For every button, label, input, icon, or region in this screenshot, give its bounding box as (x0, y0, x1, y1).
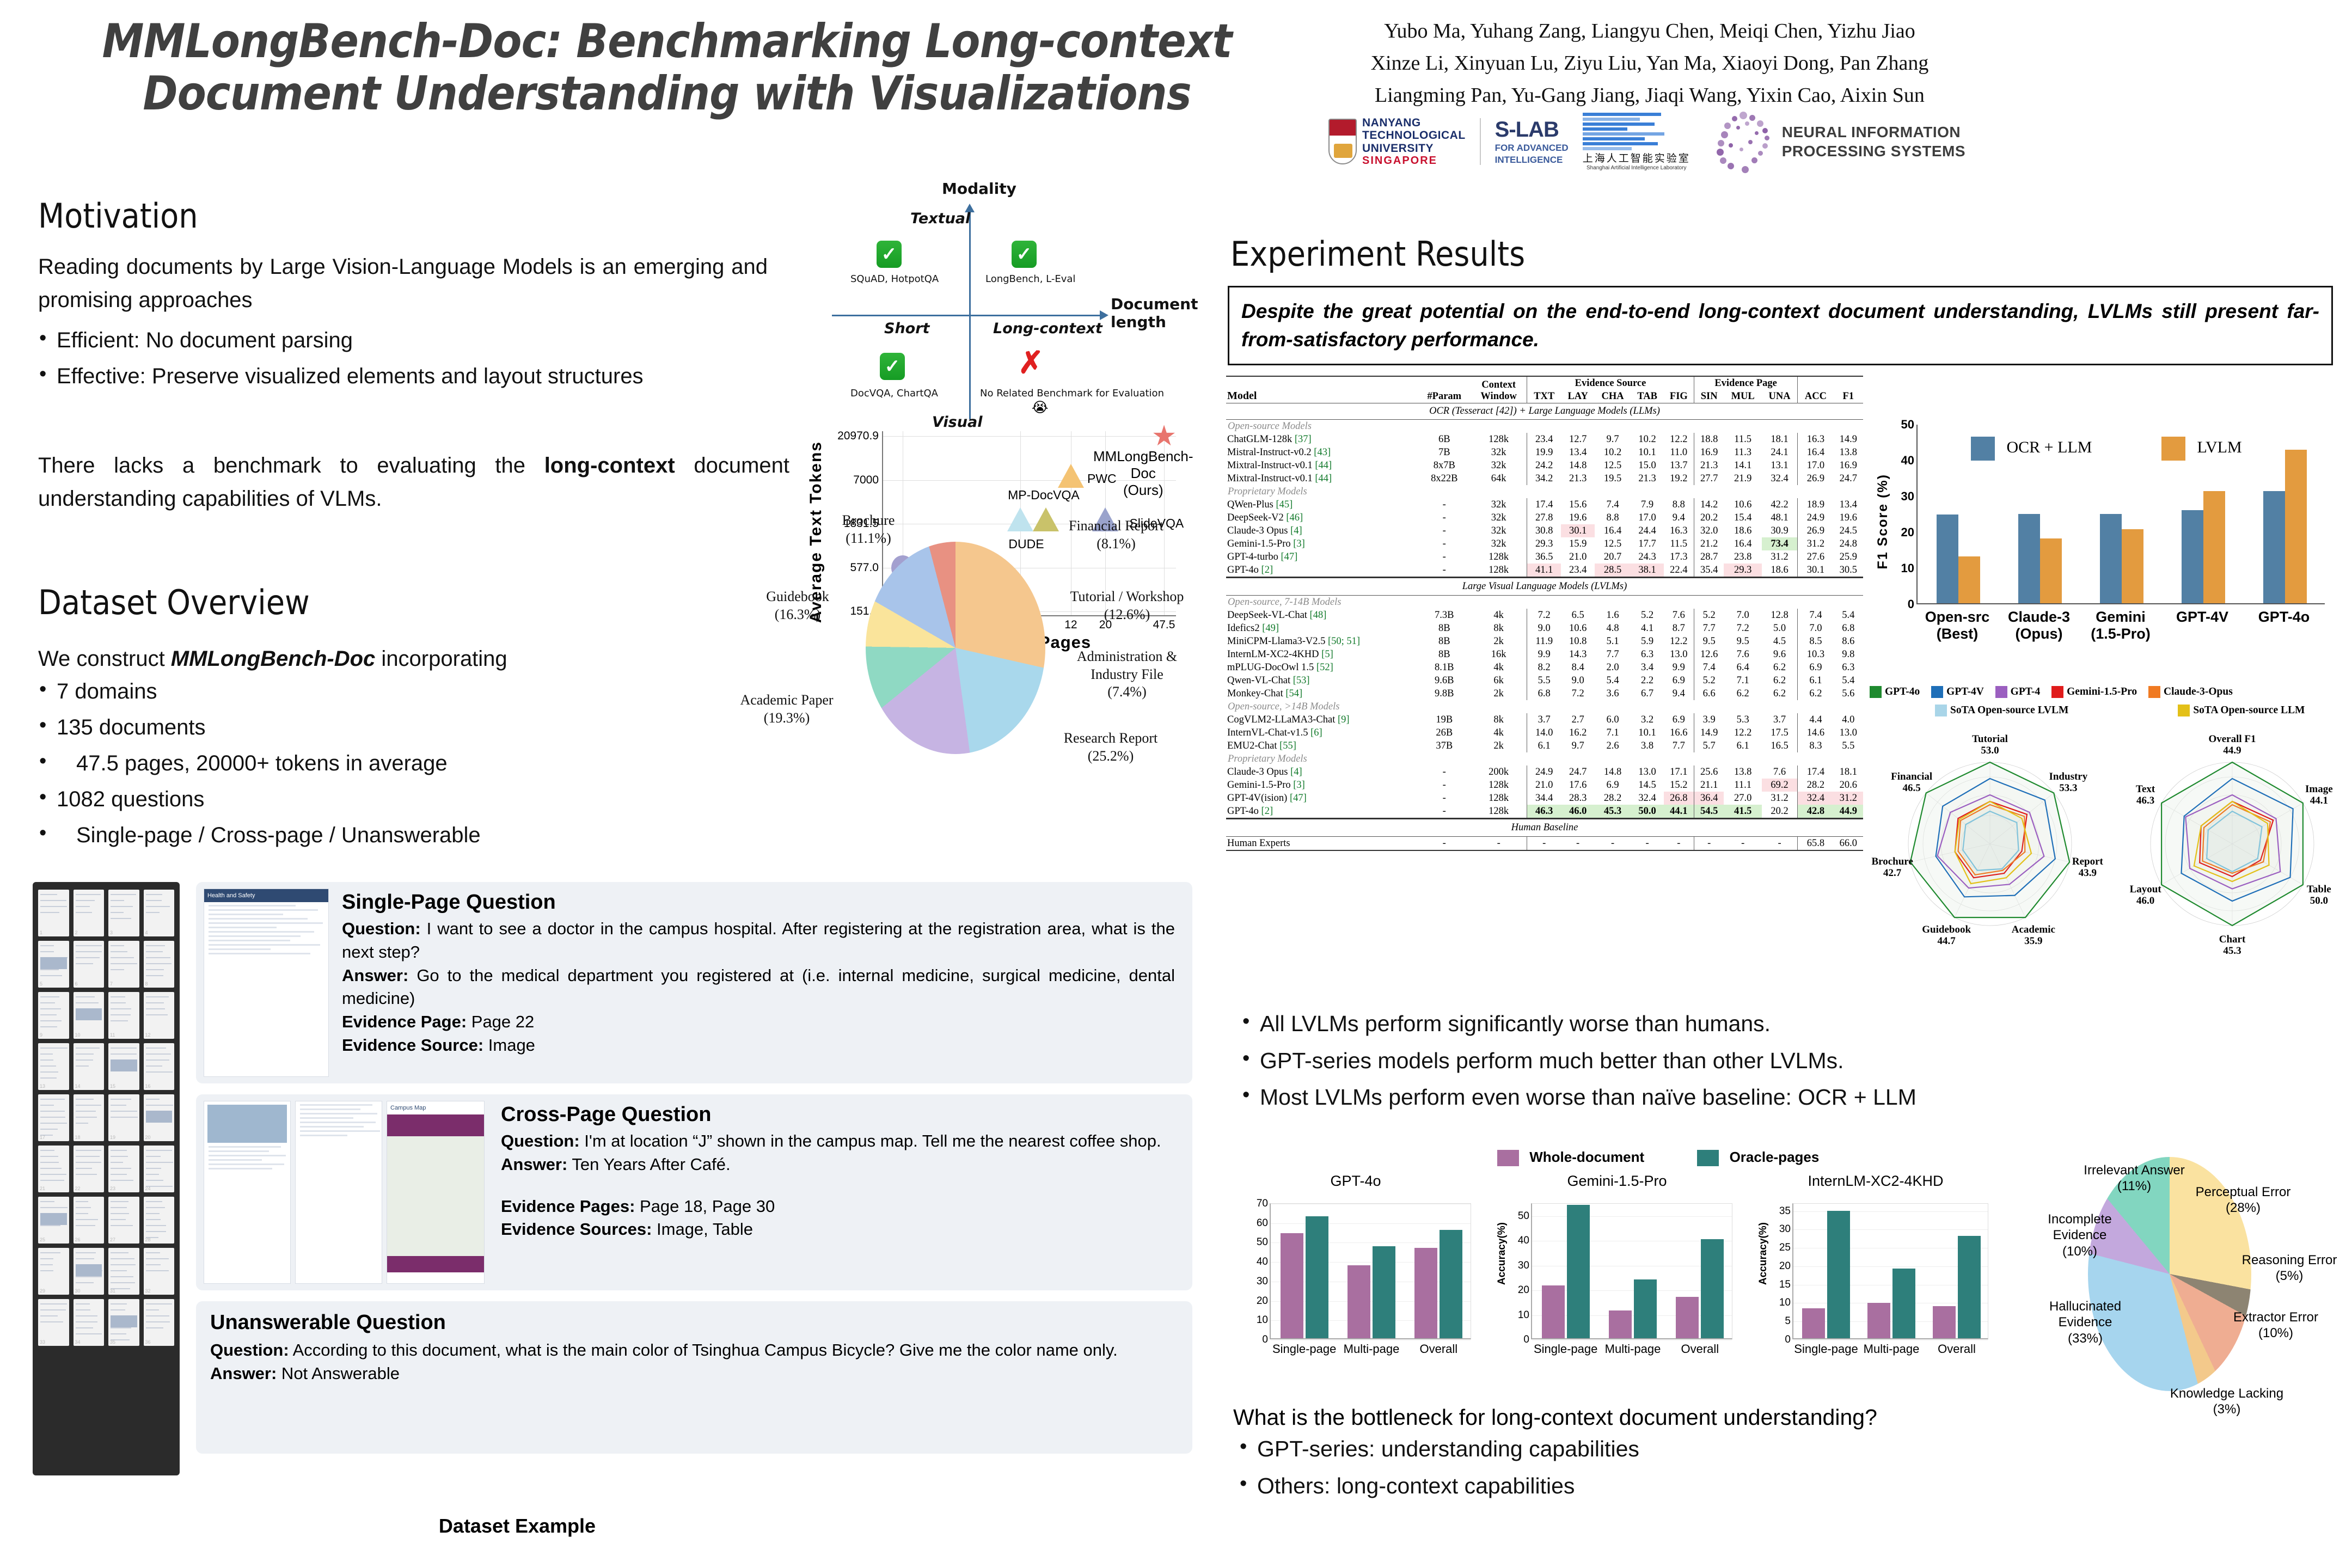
table-cell: 14.6 (1798, 726, 1834, 739)
table-cell: - (1471, 837, 1527, 851)
table-cell: 5.5 (1834, 739, 1863, 752)
mini-y-tick: 60 (1257, 1217, 1268, 1229)
f1-y-tick: 20 (1901, 525, 1914, 540)
mini-x-tick: Overall (1938, 1342, 1976, 1356)
f1-chart-y-axis-label: F1 Score (%) (1875, 474, 1891, 569)
table-cell: 14.2 (1694, 498, 1724, 511)
table-cell: 13.0 (1834, 726, 1863, 739)
table-cell: 48.1 (1762, 511, 1798, 524)
table-cell: 12.6 (1694, 648, 1724, 661)
mini-chart-gpt4o: GPT-4o010203040506070Single-pageMulti-pa… (1236, 1192, 1475, 1377)
mini-y-tick: 0 (1523, 1334, 1529, 1346)
experiment-callout-box: Despite the great potential on the end-t… (1228, 286, 2333, 365)
table-cell: 50.0 (1631, 805, 1663, 819)
table-row: GPT-4-turbo [47]-128k36.521.020.724.317.… (1226, 550, 1863, 563)
table-cell: 17.1 (1664, 765, 1694, 779)
table-cell: 30.1 (1561, 524, 1594, 537)
table-cell: 15.4 (1724, 511, 1762, 524)
table-cell: 14.8 (1595, 765, 1631, 779)
table-cell: 5.2 (1631, 609, 1663, 622)
motivation-bullet-efficient: Efficient: No document parsing (33, 324, 784, 357)
error-pie-label: Irrelevant Answer (11%) (2074, 1162, 2194, 1195)
table-cell: 30.1 (1798, 563, 1834, 578)
page-thumbnail: 23 (108, 1146, 139, 1192)
radar-legend-claude: Claude-3-Opus (2148, 686, 2233, 698)
table-cell: 3.7 (1762, 713, 1798, 726)
table-cell: - (1595, 837, 1631, 851)
table-cell: InternLM-XC2-4KHD [5] (1226, 648, 1418, 661)
domain-pie-label: Financial Report(8.1%) (1051, 517, 1181, 553)
table-cell: Qwen-VL-Chat [53] (1226, 674, 1418, 687)
quadrant-horizontal-axis (832, 315, 1104, 316)
mini-y-tick: 10 (1518, 1309, 1529, 1321)
radar-left-svg (1873, 732, 2107, 972)
table-cell: 17.5 (1762, 726, 1798, 739)
table-cell: 2k (1471, 635, 1527, 648)
mini-y-tick: 0 (1262, 1334, 1268, 1346)
table-cell: 21.9 (1724, 472, 1762, 485)
check-icon-squad: ✓ (877, 241, 902, 268)
table-cell: 2.0 (1595, 661, 1631, 674)
cross-page-doc-header: Campus Map (387, 1101, 484, 1114)
table-cell: 7.7 (1595, 648, 1631, 661)
table-cell: 64k (1471, 472, 1527, 485)
table-cell: 6.9 (1595, 779, 1631, 792)
mini-bar (1634, 1279, 1657, 1338)
radar-axis-label: Industry53.3 (2038, 771, 2098, 794)
table-cell: 6.1 (1527, 739, 1561, 752)
table-cell: 14.3 (1561, 648, 1594, 661)
table-cell: 38.1 (1631, 563, 1663, 578)
table-cell: 19.9 (1527, 446, 1561, 459)
oracle-legend: Whole-document Oracle-pages (1497, 1149, 1819, 1166)
table-cell: 15.0 (1631, 459, 1663, 472)
mini-gridline (1532, 1340, 1732, 1340)
table-cell: 6.2 (1798, 687, 1834, 700)
table-cell: TAB (1631, 390, 1663, 403)
page-thumbnail: 21 (38, 1146, 69, 1192)
mini-y-tick: 25 (1779, 1242, 1791, 1254)
table-cell: 8.3 (1798, 739, 1834, 752)
f1-bar (1958, 556, 1980, 603)
table-cell: 69.2 (1762, 779, 1798, 792)
table-cell: 5.1 (1595, 635, 1631, 648)
table-cell: 32k (1471, 459, 1527, 472)
radar-legend-gpt4o: GPT-4o (1870, 686, 1920, 698)
table-cell: 17.7 (1631, 537, 1663, 550)
table-cell: - (1418, 837, 1471, 851)
mini-bar (1414, 1248, 1437, 1338)
table-cell: 7.1 (1724, 674, 1762, 687)
table-row: QWen-Plus [45]-32k17.415.67.47.98.814.21… (1226, 498, 1863, 511)
mini-bar (1542, 1285, 1565, 1338)
table-cell: 26B (1418, 726, 1471, 739)
radar-legend-gpt4v: GPT-4V (1931, 686, 1984, 698)
shai-chinese-name: 上海人工智能实验室 (1583, 150, 1690, 165)
table-cell: 18.1 (1762, 433, 1798, 446)
single-page-doc-header: Health and Safety (204, 889, 328, 902)
table-cell: 8x22B (1418, 472, 1471, 485)
table-cell: Human Experts (1226, 837, 1418, 851)
mini-bar (1892, 1269, 1915, 1338)
table-cell: 32.4 (1631, 792, 1663, 805)
table-cell: 2.7 (1561, 713, 1594, 726)
f1-bar (2263, 491, 2285, 603)
cross-page-a-body: Ten Years After Café. (567, 1155, 730, 1174)
table-cell: 128k (1471, 805, 1527, 819)
table-cell: 6.4 (1724, 661, 1762, 674)
table-cell: 5.4 (1834, 609, 1863, 622)
experiment-bullet-2: Most LVLMs perform even worse than naïve… (1236, 1081, 2270, 1114)
table-cell: 45.3 (1595, 805, 1631, 819)
table-cell: Gemini-1.5-Pro [3] (1226, 779, 1418, 792)
single-page-doc-thumbnail: Health and Safety (204, 889, 329, 1077)
table-cell: 17.0 (1631, 511, 1663, 524)
table-row: Claude-3 Opus [4]-32k30.830.116.424.416.… (1226, 524, 1863, 537)
f1-category-label: Open-src(Best) (1914, 609, 2001, 642)
radar-legend: GPT-4o GPT-4V GPT-4 Gemini-1.5-Pro Claud… (1870, 686, 2352, 720)
radar-chart-domains: Tutorial53.0Industry53.3Report43.9Academ… (1873, 732, 2107, 972)
domain-pie-label: Guidebook(16.3%) (732, 588, 863, 623)
table-cell: 8.4 (1561, 661, 1594, 674)
table-cell: - (1418, 550, 1471, 563)
table-cell: UNA (1762, 390, 1798, 403)
table-cell: Gemini-1.5-Pro [3] (1226, 537, 1418, 550)
table-row: Human Baseline (1226, 819, 1863, 837)
neurips-line-1: NEURAL INFORMATION (1782, 122, 1965, 142)
mini-bar (1958, 1236, 1981, 1339)
page-thumbnail: 19 (108, 1094, 139, 1141)
author-line-1: Yubo Ma, Yuhang Zang, Liangyu Chen, Meiq… (1328, 15, 1971, 47)
table-cell: 16.4 (1595, 524, 1631, 537)
conclusion-question: What is the bottleneck for long-context … (1233, 1405, 2295, 1430)
quadrant-label-long-context: Long-context (993, 320, 1102, 337)
slab-logo: S-LAB FOR ADVANCED INTELLIGENCE (1495, 118, 1569, 166)
table-cell: 5.2 (1694, 609, 1724, 622)
table-cell: 36.4 (1694, 792, 1724, 805)
table-row: Proprietary Models (1226, 752, 1863, 765)
page-thumbnail: 2 (73, 890, 105, 936)
page-thumbnail: 25 (38, 1197, 69, 1244)
motivation-paragraph-2: There lacks a benchmark to evaluating th… (38, 449, 789, 516)
table-row: Proprietary Models (1226, 485, 1863, 498)
table-cell: 5.9 (1631, 635, 1663, 648)
radar-legend-label-5: SoTA Open-source LVLM (1950, 705, 2068, 716)
mini-chart-title: Gemini-1.5-Pro (1497, 1173, 1737, 1190)
page-thumbnail: 26 (73, 1197, 105, 1244)
table-cell: 7.2 (1561, 687, 1594, 700)
table-cell: - (1694, 837, 1724, 851)
radar-axis-label: Text46.3 (2116, 784, 2176, 807)
single-page-ev-page-value: Page 22 (467, 1012, 534, 1031)
radar-axis-label: Image44.1 (2289, 784, 2349, 807)
table-cell: 9.0 (1527, 622, 1561, 635)
table-cell: 27.7 (1694, 472, 1724, 485)
page-thumbnail: 22 (73, 1146, 105, 1192)
table-cell: #Param (1418, 376, 1471, 403)
mini-x-tick: Multi-page (1344, 1342, 1400, 1356)
table-cell: LAY (1561, 390, 1594, 403)
page-thumbnail: 3 (108, 890, 139, 936)
table-cell: 3.4 (1631, 661, 1663, 674)
conclusion-block: What is the bottleneck for long-context … (1233, 1405, 2295, 1506)
mini-gridline (1793, 1340, 1988, 1340)
page-thumbnail: 28 (144, 1197, 175, 1244)
error-pie-label: Incomplete Evidence (10%) (2020, 1211, 2140, 1259)
table-cell: Human Baseline (1226, 819, 1863, 837)
mini-chart-y-label: Accuracy(%) (1757, 1222, 1769, 1285)
table-cell: 8.7 (1664, 622, 1694, 635)
mini-gridline (1271, 1340, 1471, 1340)
table-cell: 6.2 (1762, 674, 1798, 687)
table-cell: 23.4 (1527, 433, 1561, 446)
table-cell: 11.3 (1724, 446, 1762, 459)
cross-page-evidence-sources: Evidence Sources: Image, Table (501, 1218, 1176, 1241)
table-cell: MUL (1724, 390, 1762, 403)
dataset-bullet-documents: 135 documents (33, 711, 730, 744)
table-cell: 3.7 (1527, 713, 1561, 726)
table-cell: 13.4 (1834, 498, 1863, 511)
table-cell: 24.1 (1762, 446, 1798, 459)
table-cell: 4.5 (1762, 635, 1798, 648)
table-cell: 12.2 (1664, 635, 1694, 648)
neurips-logo: NEURAL INFORMATION PROCESSING SYSTEMS (1708, 109, 1965, 174)
dataset-intro: We construct MMLongBench-Doc incorporati… (38, 642, 724, 676)
table-cell: 12.8 (1762, 609, 1798, 622)
author-line-3: Liangming Pan, Yu-Gang Jiang, Jiaqi Wang… (1328, 79, 1971, 112)
page-thumbnail: 34 (73, 1299, 105, 1346)
table-cell: 21.1 (1694, 779, 1724, 792)
experiment-bullet-1: GPT-series models perform much better th… (1236, 1044, 2270, 1078)
cross-page-ev-page-value: Page 18, Page 30 (635, 1197, 775, 1216)
quadrant-label-textual: Textual (910, 210, 970, 227)
f1-y-tick: 30 (1901, 489, 1914, 504)
cross-page-doc-thumbnail-2 (295, 1101, 382, 1284)
table-cell: 11.1 (1724, 779, 1762, 792)
dataset-bullet-questions: 1082 questions (33, 783, 730, 816)
table-cell: 128k (1471, 563, 1527, 578)
table-row: GPT-4o [2]-128k41.123.428.538.122.435.42… (1226, 563, 1863, 578)
table-cell: 6.0 (1595, 713, 1631, 726)
table-cell: 21.0 (1561, 550, 1594, 563)
table-cell: 13.4 (1561, 446, 1594, 459)
experiment-bullets: All LVLMs perform significantly worse th… (1236, 1007, 2270, 1118)
table-cell: 24.7 (1561, 765, 1594, 779)
page-thumbnail: 30 (73, 1248, 105, 1295)
table-cell: 10.3 (1798, 648, 1834, 661)
table-cell: 8.8 (1664, 498, 1694, 511)
table-cell: 17.4 (1527, 498, 1561, 511)
table-cell: 13.0 (1631, 765, 1663, 779)
table-cell: - (1527, 837, 1561, 851)
table-cell: 5.7 (1694, 739, 1724, 752)
mini-x-tick: Overall (1419, 1342, 1457, 1356)
document-pages-thumbnail-panel: 1234567891011121314151617181920212223242… (33, 882, 180, 1475)
mini-y-tick: 5 (1785, 1315, 1791, 1327)
table-cell: 35.4 (1694, 563, 1724, 578)
unanswerable-a-label: Answer: (210, 1364, 277, 1383)
dataset-bullet-domains: 7 domains (33, 675, 730, 708)
mini-gridline (1793, 1229, 1988, 1230)
results-table-element: Model#ParamContextWindowEvidence SourceE… (1226, 376, 1863, 851)
table-cell: 14.9 (1834, 433, 1863, 446)
page-thumbnail: 10 (73, 992, 105, 1039)
mini-bar (1306, 1216, 1328, 1338)
table-cell: 32.4 (1798, 792, 1834, 805)
table-cell: 24.3 (1631, 550, 1663, 563)
f1-category-label: Gemini(1.5-Pro) (2077, 609, 2164, 642)
page-thumbnail: 27 (108, 1197, 139, 1244)
table-cell: 24.4 (1631, 524, 1663, 537)
table-cell: 21.3 (1561, 472, 1594, 485)
page-thumbnail: 33 (38, 1299, 69, 1346)
table-cell: 12.5 (1595, 459, 1631, 472)
ntu-logo: NANYANG TECHNOLOGICAL UNIVERSITY SINGAPO… (1328, 117, 1466, 167)
conclusion-bullet-1: Others: long-context capabilities (1233, 1469, 2295, 1503)
table-cell: 16.6 (1664, 726, 1694, 739)
table-cell (1226, 850, 1863, 851)
page-thumbnail: 35 (108, 1299, 139, 1346)
page-thumbnail: 6 (73, 941, 105, 988)
table-cell: 20.6 (1834, 779, 1863, 792)
table-cell: - (1418, 792, 1471, 805)
table-cell: 9.8B (1418, 687, 1471, 700)
cross-page-question-text: Question: I'm at location “J” shown in t… (501, 1130, 1176, 1153)
table-cell: 21.3 (1694, 459, 1724, 472)
table-cell: 7.0 (1798, 622, 1834, 635)
table-cell: 8.8 (1595, 511, 1631, 524)
table-cell: 7.2 (1527, 609, 1561, 622)
table-cell: 3.9 (1694, 713, 1724, 726)
table-cell: 6.7 (1631, 687, 1663, 700)
unanswerable-question-text: Question: According to this document, wh… (210, 1339, 1178, 1362)
table-cell: Open-source, 7-14B Models (1226, 596, 1863, 609)
table-cell: - (1664, 837, 1694, 851)
page-thumbnail: 17 (38, 1094, 69, 1141)
shai-english-name: Shanghai Artificial Intelligence Laborat… (1583, 165, 1690, 171)
table-cell: 14.9 (1694, 726, 1724, 739)
table-cell: 6.1 (1798, 674, 1834, 687)
modality-length-quadrant-diagram: Modality Document length Textual Visual … (806, 180, 1209, 436)
shanghai-ai-lab-logo: 上海人工智能实验室 Shanghai Artificial Intelligen… (1583, 112, 1690, 171)
table-cell: 32k (1471, 537, 1527, 550)
table-cell: 128k (1471, 550, 1527, 563)
table-cell: 8.1B (1418, 661, 1471, 674)
table-cell: 34.4 (1527, 792, 1561, 805)
table-cell: 15.2 (1664, 779, 1694, 792)
table-cell: 42.8 (1798, 805, 1834, 819)
table-cell: 19.5 (1595, 472, 1631, 485)
table-cell: 9.6B (1418, 674, 1471, 687)
page-thumbnail: 12 (144, 992, 175, 1039)
mini-bar (1827, 1211, 1850, 1338)
table-cell: - (1418, 779, 1471, 792)
table-cell: - (1418, 498, 1471, 511)
motivation-p2-pre: There lacks a benchmark to evaluating th… (38, 454, 544, 477)
section-title-experiment-results: Experiment Results (1230, 234, 1525, 274)
single-page-ev-page-label: Evidence Page: (342, 1012, 467, 1031)
f1-y-tick: 50 (1901, 418, 1914, 432)
scatter-point-label: MP-DocVQA (1008, 488, 1080, 503)
table-cell: GPT-4-turbo [47] (1226, 550, 1418, 563)
table-cell: 4k (1471, 661, 1527, 674)
right-column: Experiment Results Despite the great pot… (1214, 180, 2352, 1568)
table-cell: 6.3 (1631, 648, 1663, 661)
author-line-2: Xinze Li, Xinyuan Lu, Ziyu Liu, Yan Ma, … (1328, 47, 1971, 79)
table-cell: 8.6 (1834, 635, 1863, 648)
table-cell: 128k (1471, 779, 1527, 792)
table-cell: 5.6 (1834, 687, 1863, 700)
table-cell: 15.9 (1561, 537, 1594, 550)
table-cell: 21.0 (1527, 779, 1561, 792)
scatter-y-tick: 7000 (853, 474, 879, 487)
table-cell: 6.2 (1724, 687, 1762, 700)
dataset-intro-post: incorporating (375, 647, 507, 671)
table-cell: 12.5 (1595, 537, 1631, 550)
table-cell: 32k (1471, 498, 1527, 511)
cross-page-doc-thumbnail-1 (204, 1101, 291, 1284)
table-row: EMU2-Chat [55]37B2k6.19.72.63.87.75.76.1… (1226, 739, 1863, 752)
table-cell: 11.0 (1664, 446, 1694, 459)
mini-gridline (1271, 1223, 1471, 1224)
table-cell: 18.6 (1762, 563, 1798, 578)
table-row: Gemini-1.5-Pro [3]-128k21.017.66.914.515… (1226, 779, 1863, 792)
slab-sub-2: INTELLIGENCE (1495, 154, 1569, 166)
table-cell: 16.4 (1798, 446, 1834, 459)
table-row: Model#ParamContextWindowEvidence SourceE… (1226, 376, 1863, 390)
mini-bar (1867, 1303, 1890, 1338)
shai-bars-icon (1583, 112, 1664, 150)
scatter-y-tick: 20970.9 (837, 430, 879, 443)
table-cell: 21.3 (1631, 472, 1663, 485)
table-cell: GPT-4V(ision) [47] (1226, 792, 1418, 805)
table-row: Open-source, >14B Models (1226, 700, 1863, 713)
f1-legend-label-lvlm: LVLM (2197, 438, 2241, 456)
table-cell: 9.5 (1694, 635, 1724, 648)
dataset-bullets: 7 domains 135 documents 47.5 pages, 2000… (33, 675, 730, 855)
table-cell: 8B (1418, 635, 1471, 648)
cross-page-q-label: Question: (501, 1131, 580, 1150)
mini-chart-title: GPT-4o (1236, 1173, 1475, 1190)
table-cell: 10.1 (1631, 726, 1663, 739)
mini-y-tick: 20 (1779, 1260, 1791, 1272)
table-cell: 8k (1471, 713, 1527, 726)
table-cell: 32k (1471, 511, 1527, 524)
table-cell: 6.9 (1664, 713, 1694, 726)
section-title-motivation: Motivation (38, 196, 198, 236)
table-cell: 17.6 (1561, 779, 1594, 792)
table-row: InternVL-Chat-v1.5 [6]26B4k14.016.27.110… (1226, 726, 1863, 739)
quadrant-y-axis-label: Modality (942, 180, 1016, 198)
f1-bar (2122, 529, 2143, 603)
table-row: DeepSeek-V2 [46]-32k27.819.68.817.09.420… (1226, 511, 1863, 524)
table-cell: 31.2 (1798, 537, 1834, 550)
radar-legend-label-4: Claude-3-Opus (2164, 686, 2233, 698)
table-cell: 4k (1471, 609, 1527, 622)
table-row: mPLUG-DocOwl 1.5 [52]8.1B4k8.28.42.03.49… (1226, 661, 1863, 674)
radar-axis-label: Overall F144.9 (2202, 734, 2262, 757)
table-cell: CHA (1595, 390, 1631, 403)
motivation-bullet-effective: Effective: Preserve visualized elements … (33, 360, 784, 393)
f1-y-tick: 40 (1901, 454, 1914, 468)
table-cell: 6k (1471, 674, 1527, 687)
single-page-ev-src-label: Evidence Source: (342, 1036, 483, 1055)
table-cell: 128k (1471, 792, 1527, 805)
table-cell: 2.2 (1631, 674, 1663, 687)
table-cell: 16.4 (1724, 537, 1762, 550)
slab-sub-1: FOR ADVANCED (1495, 142, 1569, 154)
table-cell: 19.2 (1664, 472, 1694, 485)
